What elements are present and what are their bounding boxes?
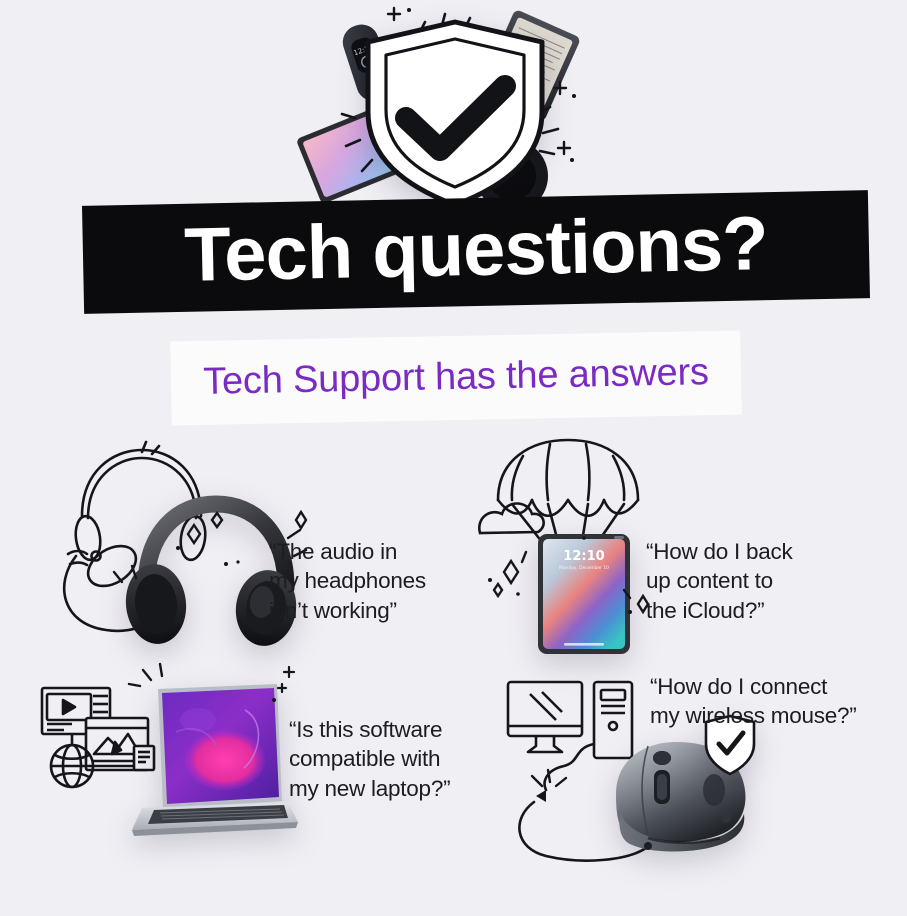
headline-banner: Tech questions? xyxy=(82,190,870,314)
quote-line: my new laptop?” xyxy=(289,776,450,801)
tablet-clock-time: 12:10 xyxy=(563,549,604,564)
quote-card-headphones: “The audio in my headphones isn’t workin… xyxy=(60,438,480,653)
quote-line: compatible with xyxy=(289,746,440,771)
quote-text-headphones: “The audio in my headphones isn’t workin… xyxy=(269,537,469,625)
quote-line: “Is this software xyxy=(289,717,442,742)
quote-line: “How do I connect xyxy=(650,674,827,699)
tablet-clock-date: Monday, December 10 xyxy=(559,565,609,571)
computer-tower-icon xyxy=(594,682,632,758)
quote-line: “How do I back xyxy=(646,539,793,564)
page-title: Tech questions? xyxy=(184,206,769,294)
quote-line: “The audio in xyxy=(269,539,397,564)
laptop-illustration xyxy=(30,662,300,857)
quote-card-mouse: “How do I connect my wireless mouse?” xyxy=(498,662,898,867)
quote-text-laptop: “Is this software compatible with my new… xyxy=(289,715,489,803)
hero-illustration: 12:10 xyxy=(300,0,610,215)
subhead-banner: Tech Support has the answers xyxy=(170,331,742,426)
globe-icon xyxy=(51,745,93,787)
quote-line: isn’t working” xyxy=(269,598,397,623)
quote-line: my headphones xyxy=(269,568,426,593)
tablet-photo: 12:10 Monday, December 10 xyxy=(538,534,630,654)
quote-line: the iCloud?” xyxy=(646,598,764,623)
sparkle-marks xyxy=(129,664,162,686)
quote-line: my wireless mouse?” xyxy=(650,703,857,728)
subhead-text: Tech Support has the answers xyxy=(203,351,709,404)
quote-card-tablet: 12:10 Monday, December 10 xyxy=(478,438,898,653)
sparkle-plus-marks xyxy=(278,667,294,692)
parachute-doodle xyxy=(498,440,638,542)
promo-graphic: 12:10 xyxy=(0,0,907,916)
sparkle-dots xyxy=(272,698,276,702)
browser-window-icon xyxy=(86,718,154,770)
desktop-monitor-icon xyxy=(508,682,582,752)
laptop-photo xyxy=(132,684,298,836)
quote-card-laptop: “Is this software compatible with my new… xyxy=(30,662,480,862)
quote-text-tablet: “How do I back up content to the iCloud?… xyxy=(646,537,856,625)
quote-line: up content to xyxy=(646,568,773,593)
cloud-doodle xyxy=(479,504,543,534)
quote-text-mouse: “How do I connect my wireless mouse?” xyxy=(650,672,880,731)
